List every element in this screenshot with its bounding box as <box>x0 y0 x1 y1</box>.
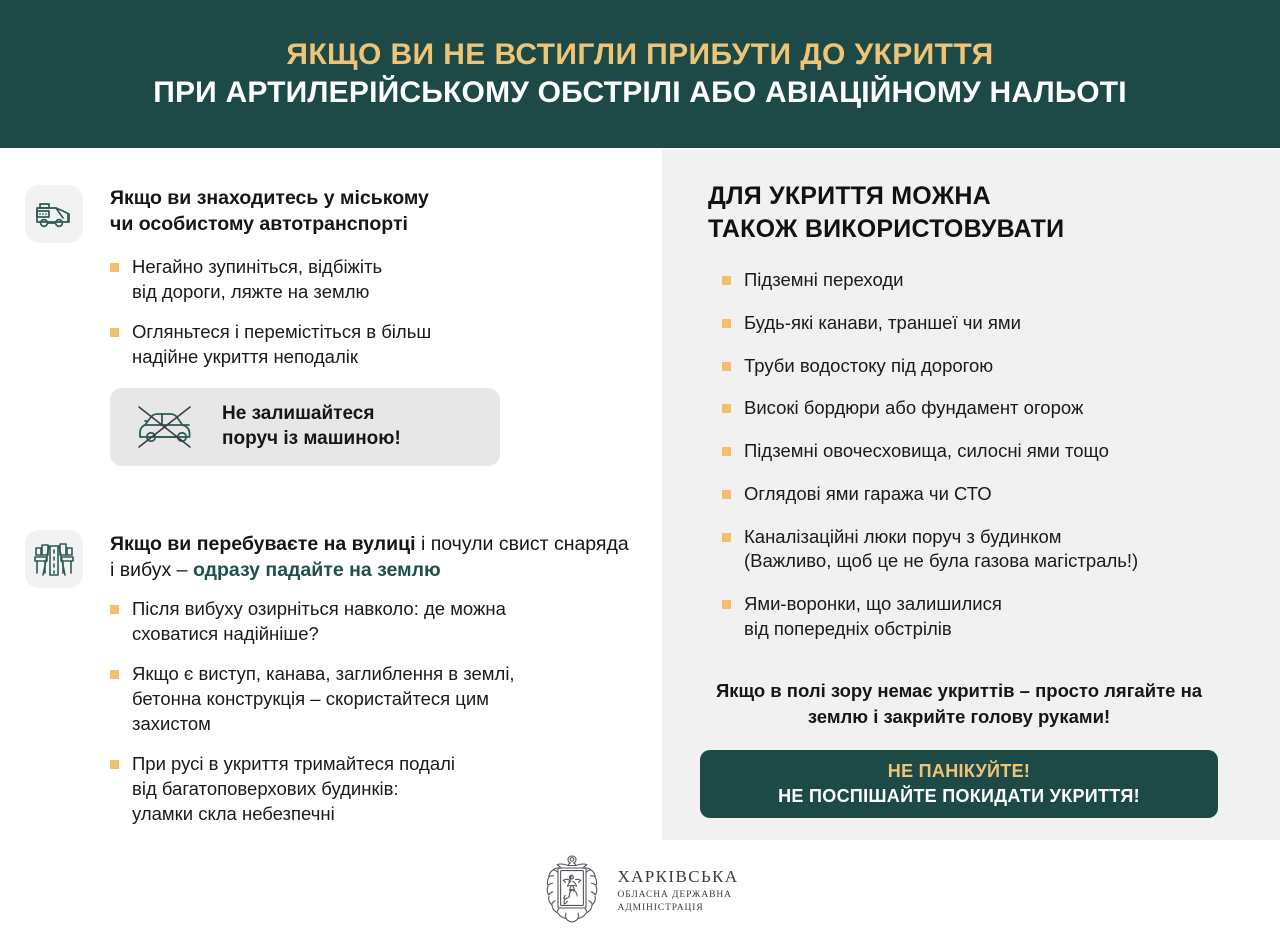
footer-title: ХАРКІВСЬКА <box>617 867 738 887</box>
right-panel-bullet-list: Підземні переходи Будь-які канави, транш… <box>722 268 1232 642</box>
no-car-warning-line2: поруч із машиною! <box>222 427 401 452</box>
list-item: Підземні переходи <box>722 268 1232 293</box>
header-title-line1: ЯКЩО ВИ НЕ ВСТИГЛИ ПРИБУТИ ДО УКРИТТЯ <box>286 38 993 72</box>
right-panel-heading-line2: ТАКОЖ ВИКОРИСТОВУВАТИ <box>708 213 1064 246</box>
header-banner: ЯКЩО ВИ НЕ ВСТИГЛИ ПРИБУТИ ДО УКРИТТЯ ПР… <box>0 0 1280 148</box>
footer-text: ХАРКІВСЬКА ОБЛАСНА ДЕРЖАВНА АДМІНІСТРАЦІ… <box>617 867 738 914</box>
list-item: Якщо є виступ, канава, заглиблення в зем… <box>110 662 630 737</box>
section2-heading-green: одразу падайте на землю <box>193 559 441 581</box>
no-car-warning-text: Не залишайтеся поруч із машиною! <box>222 402 401 451</box>
footer-subtitle-2: АДМІНІСТРАЦІЯ <box>617 903 738 914</box>
do-not-panic-callout: НЕ ПАНІКУЙТЕ! НЕ ПОСПІШАЙТЕ ПОКИДАТИ УКР… <box>700 750 1218 818</box>
kharkiv-coat-of-arms-icon <box>541 852 603 929</box>
no-car-icon <box>132 397 204 458</box>
right-panel-note: Якщо в полі зору немає укриттів – просто… <box>700 678 1218 729</box>
list-item: Труби водостоку під дорогою <box>722 354 1232 379</box>
list-item: Після вибуху озирніться навколо: де можн… <box>110 597 630 647</box>
list-item: Оглядові ями гаража чи СТО <box>722 482 1232 507</box>
no-car-warning-box: Не залишайтеся поруч із машиною! <box>110 388 500 466</box>
list-item: Каналізаційні люки поруч з будинком (Важ… <box>722 525 1232 575</box>
street-icon-tile <box>25 530 83 588</box>
section1-heading-line2: чи особистому автотранспорті <box>110 213 408 235</box>
no-car-warning-line1: Не залишайтеся <box>222 402 401 427</box>
list-item: Негайно зупиніться, відбіжіть від дороги… <box>110 255 530 305</box>
callout-line1: НЕ ПАНІКУЙТЕ! <box>888 761 1030 783</box>
callout-line2: НЕ ПОСПІШАЙТЕ ПОКИДАТИ УКРИТТЯ! <box>778 786 1140 808</box>
street-icon <box>33 539 75 579</box>
footer-subtitle-1: ОБЛАСНА ДЕРЖАВНА <box>617 890 738 901</box>
footer: ХАРКІВСЬКА ОБЛАСНА ДЕРЖАВНА АДМІНІСТРАЦІ… <box>0 840 1280 941</box>
section1-heading-line1: Якщо ви знаходитесь у міському <box>110 187 429 209</box>
section2-heading-bold: Якщо ви перебуваєте на вулиці <box>110 533 416 555</box>
list-item: Високі бордюри або фундамент огорож <box>722 396 1232 421</box>
right-panel-heading: ДЛЯ УКРИТТЯ МОЖНА ТАКОЖ ВИКОРИСТОВУВАТИ <box>708 180 1064 245</box>
bus-icon <box>34 198 74 230</box>
list-item: Підземні овочесховища, силосні ями тощо <box>722 439 1232 464</box>
section2-bullet-list: Після вибуху озирніться навколо: де можн… <box>110 597 630 827</box>
list-item: Огляньтеся і перемістіться в більш надій… <box>110 320 530 370</box>
list-item: При русі в укриття тримайтеся подалі від… <box>110 752 630 827</box>
bus-icon-tile <box>25 185 83 243</box>
section2-heading: Якщо ви перебуваєте на вулиці і почули с… <box>110 532 630 584</box>
section1-heading: Якщо ви знаходитесь у міському чи особис… <box>110 186 530 238</box>
list-item: Будь-які канави, траншеї чи ями <box>722 311 1232 336</box>
section1-bullet-list: Негайно зупиніться, відбіжіть від дороги… <box>110 255 530 370</box>
list-item: Ями-воронки, що залишилися від попередні… <box>722 592 1232 642</box>
right-panel-heading-line1: ДЛЯ УКРИТТЯ МОЖНА <box>708 180 1064 213</box>
header-title-line2: ПРИ АРТИЛЕРІЙСЬКОМУ ОБСТРІЛІ АБО АВІАЦІЙ… <box>153 76 1127 110</box>
